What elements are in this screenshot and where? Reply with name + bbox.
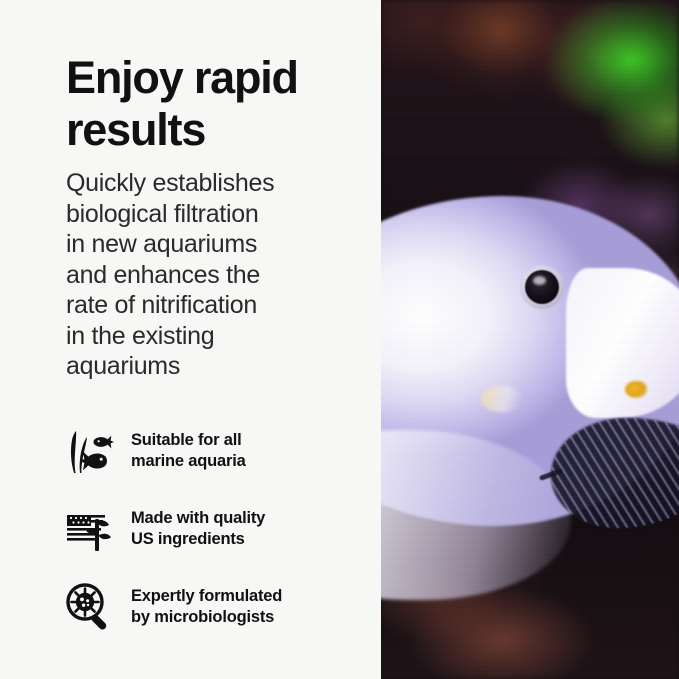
promo-banner: Enjoy rapid results Quickly establishes … [0, 0, 679, 679]
us-flag-plant-icon [58, 498, 120, 560]
left-text-panel: Enjoy rapid results Quickly establishes … [0, 0, 381, 679]
feature-label: Expertly formulated by microbiologists [131, 586, 282, 629]
product-photo-reef-fish [381, 0, 679, 679]
body-description: Quickly establishes biological filtratio… [66, 168, 366, 382]
magnifier-microbe-icon [58, 576, 120, 638]
feature-item-marine-aquaria: Suitable for all marine aquaria [58, 420, 368, 482]
feature-list: Suitable for all marine aquaria [58, 420, 368, 654]
fish-eye [525, 270, 559, 304]
fish-snout [566, 268, 679, 418]
page-title: Enjoy rapid results [66, 52, 366, 156]
feature-label: Made with quality US ingredients [131, 508, 265, 551]
feature-item-microbiologists: Expertly formulated by microbiologists [58, 576, 368, 638]
fish-pelvic-fin [481, 386, 521, 412]
feature-label: Suitable for all marine aquaria [131, 430, 246, 473]
fish-mouth [625, 381, 647, 398]
seaweed-two-fish-icon [58, 420, 120, 482]
feature-item-us-ingredients: Made with quality US ingredients [58, 498, 368, 560]
fish-eye-highlight [533, 276, 546, 285]
